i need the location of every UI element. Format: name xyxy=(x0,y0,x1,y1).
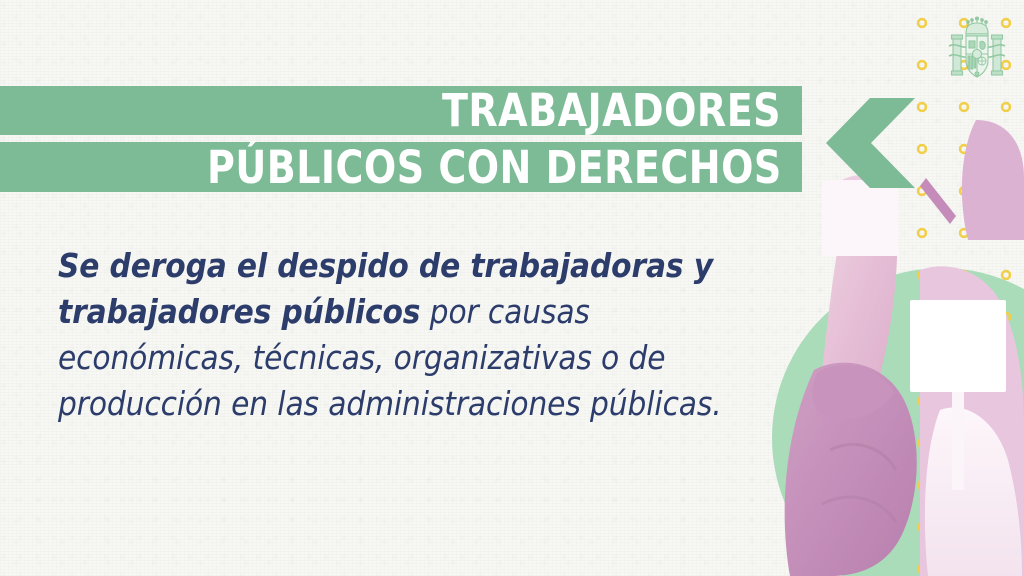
title-banner-line-2: PÚBLICOS CON DERECHOS xyxy=(0,142,802,192)
sticky-note-1 xyxy=(822,180,898,256)
title-text-line-1: TRABAJADORES xyxy=(442,88,802,133)
body-lead-text: Se deroga el despido de trabajadoras y t… xyxy=(58,246,713,331)
body-paragraph: Se deroga el despido de trabajadoras y t… xyxy=(58,243,758,427)
person-holding-sticky-notes-duotone xyxy=(770,120,1024,576)
left-chevron-arrow xyxy=(818,98,918,188)
spanish-coat-of-arms-icon xyxy=(947,16,1007,88)
poster-canvas: TRABAJADORES PÚBLICOS CON DERECHOS Se de… xyxy=(0,0,1024,576)
title-banner-line-1: TRABAJADORES xyxy=(0,86,802,135)
sticky-note-2 xyxy=(910,300,1006,392)
title-text-line-2: PÚBLICOS CON DERECHOS xyxy=(207,145,802,190)
